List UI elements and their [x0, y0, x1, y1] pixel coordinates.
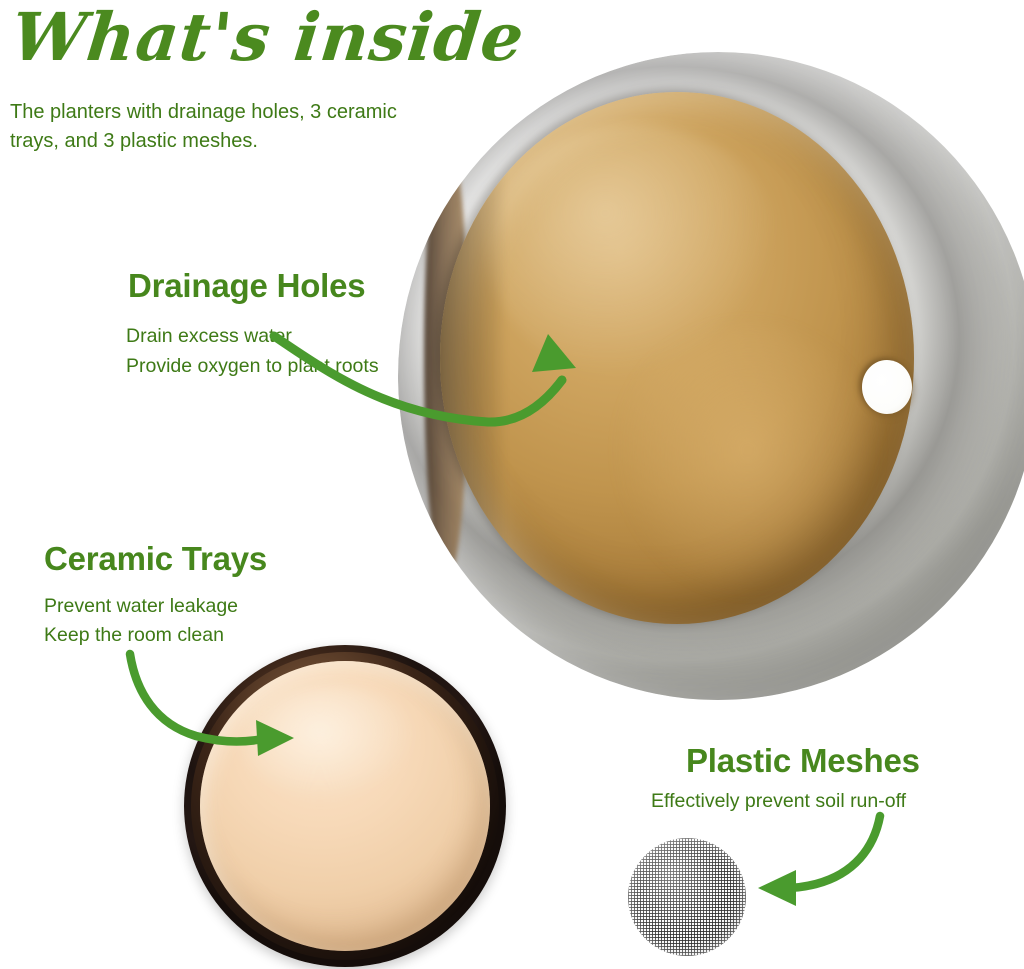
- section-line-keep-room-clean: Keep the room clean: [44, 621, 224, 650]
- section-heading-ceramic-trays: Ceramic Trays: [44, 540, 267, 578]
- ceramic-tray-image: [184, 645, 506, 967]
- section-heading-plastic-meshes: Plastic Meshes: [686, 742, 920, 780]
- planter-image: [398, 52, 1024, 700]
- infographic-page: What's inside The planters with drainage…: [0, 0, 1024, 969]
- cavity-edge-shadow: [440, 92, 506, 623]
- cavity-secondary-highlight: [611, 326, 886, 602]
- drainage-hole: [862, 360, 912, 414]
- intro-text: The planters with drainage holes, 3 cera…: [10, 98, 440, 156]
- section-line-drain-excess-water: Drain excess water: [126, 322, 292, 351]
- plastic-mesh-disc: [628, 838, 746, 956]
- planter-exterior: [398, 52, 1024, 700]
- planter-interior-cavity: [440, 92, 914, 623]
- section-heading-drainage-holes: Drainage Holes: [128, 267, 365, 305]
- section-line-provide-oxygen: Provide oxygen to plant roots: [126, 352, 379, 381]
- tray-highlight: [241, 684, 415, 800]
- section-line-prevent-water-leakage: Prevent water leakage: [44, 592, 238, 621]
- section-line-prevent-soil-runoff: Effectively prevent soil run-off: [651, 787, 906, 816]
- mesh-shading: [628, 838, 746, 956]
- tray-face: [200, 661, 490, 951]
- curved-arrow-to-mesh-icon: [752, 812, 952, 922]
